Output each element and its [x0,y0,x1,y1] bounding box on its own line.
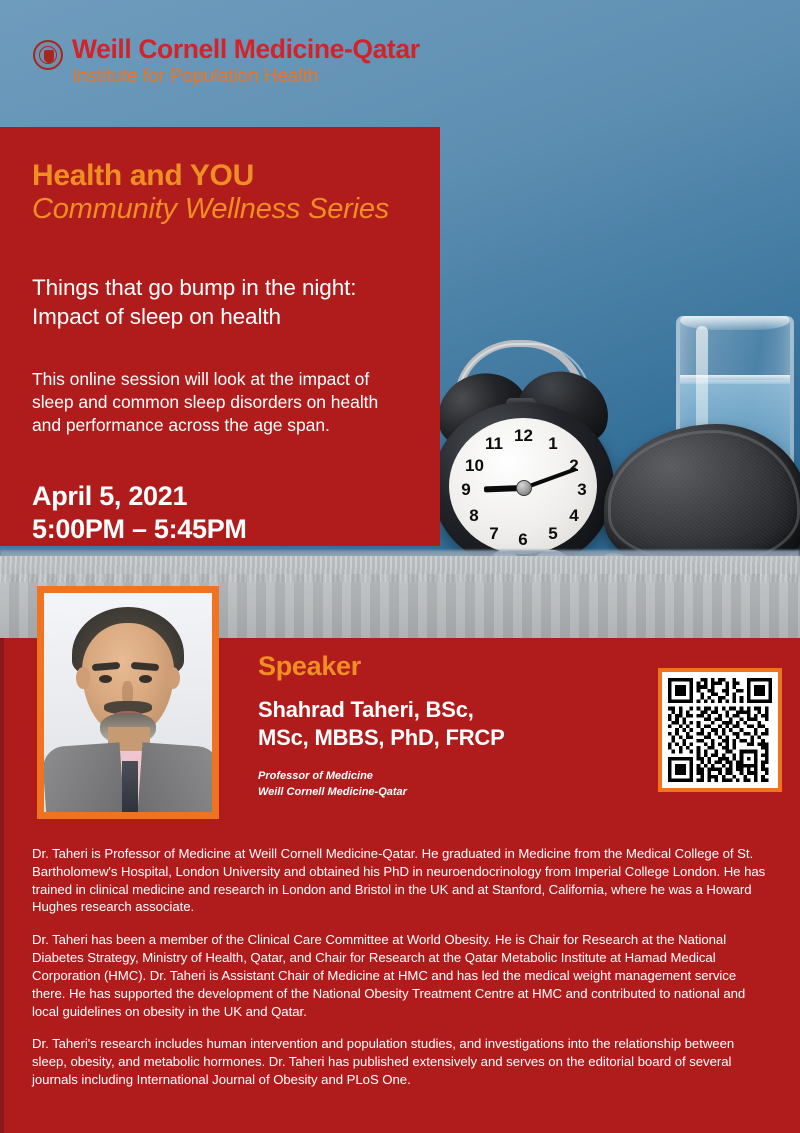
clock-number: 1 [544,434,562,454]
session-datetime: April 5, 2021 5:00PM – 5:45PM [32,480,404,547]
clock-number: 4 [565,506,583,526]
portrait-eye-right [139,675,152,683]
qr-code-icon[interactable] [662,672,778,788]
speaker-section-label: Speaker [258,651,628,682]
cornell-seal-icon [33,40,63,70]
clock-number: 10 [465,456,483,476]
brand-logo: Weill Cornell Medicine-Qatar Institute f… [33,36,420,89]
avatar [44,593,212,812]
bio-paragraph: Dr. Taheri's research includes human int… [32,1035,772,1088]
portrait-eye-left [99,675,112,683]
speaker-affiliation: Professor of Medicine Weill Cornell Medi… [258,769,628,799]
speaker-role: Professor of Medicine [258,769,628,784]
headline-panel: Health and YOU Community Wellness Series… [0,127,440,546]
portrait-ear-left [76,667,90,689]
brand-institute: Institute for Population Health [72,65,420,89]
clock-number: 3 [573,480,591,500]
speaker-name: Shahrad Taheri, BSc, MSc, MBBS, PhD, FRC… [258,696,628,751]
speaker-name-line2: MSc, MBBS, PhD, FRCP [258,724,628,752]
speaker-name-line1: Shahrad Taheri, BSc, [258,696,628,724]
clock-body: 12 1 2 3 4 5 6 7 8 9 10 11 [432,402,614,570]
clock-center-pin [516,480,532,496]
bio-paragraph: Dr. Taheri has been a member of the Clin… [32,931,772,1020]
bio-paragraph: Dr. Taheri is Professor of Medicine at W… [32,845,772,916]
series-title-line2: Community Wellness Series [32,193,404,226]
portrait-jacket-left [44,742,124,812]
session-topic-line1: Things that go bump in the night: [32,274,404,303]
session-topic-line2: Impact of sleep on health [32,303,404,332]
clock-number: 5 [544,524,562,544]
clock-number: 12 [514,426,532,446]
session-topic: Things that go bump in the night: Impact… [32,274,404,332]
session-time: 5:00PM – 5:45PM [32,513,404,546]
speaker-institution: Weill Cornell Medicine-Qatar [258,785,628,800]
speaker-portrait-frame [37,586,219,819]
clock-number: 9 [457,480,475,500]
speaker-biography: Dr. Taheri is Professor of Medicine at W… [32,845,772,1089]
speaker-details: Speaker Shahrad Taheri, BSc, MSc, MBBS, … [258,651,628,800]
session-description: This online session will look at the imp… [32,368,404,438]
portrait-jacket-right [138,742,212,812]
qr-code-svg [668,678,772,782]
brand-logo-text: Weill Cornell Medicine-Qatar Institute f… [72,36,420,89]
clock-face: 12 1 2 3 4 5 6 7 8 9 10 11 [449,418,597,554]
qr-code[interactable] [658,668,782,792]
series-title-line1: Health and YOU [32,159,404,193]
brand-name: Weill Cornell Medicine-Qatar [72,36,420,64]
clock-number: 7 [485,524,503,544]
sleep-mask-seam [608,430,800,564]
clock-number: 6 [514,530,532,550]
session-date: April 5, 2021 [32,480,404,513]
portrait-ear-right [166,667,180,689]
clock-number: 8 [465,506,483,526]
portrait-tie [122,761,138,812]
clock-number: 11 [485,434,503,454]
